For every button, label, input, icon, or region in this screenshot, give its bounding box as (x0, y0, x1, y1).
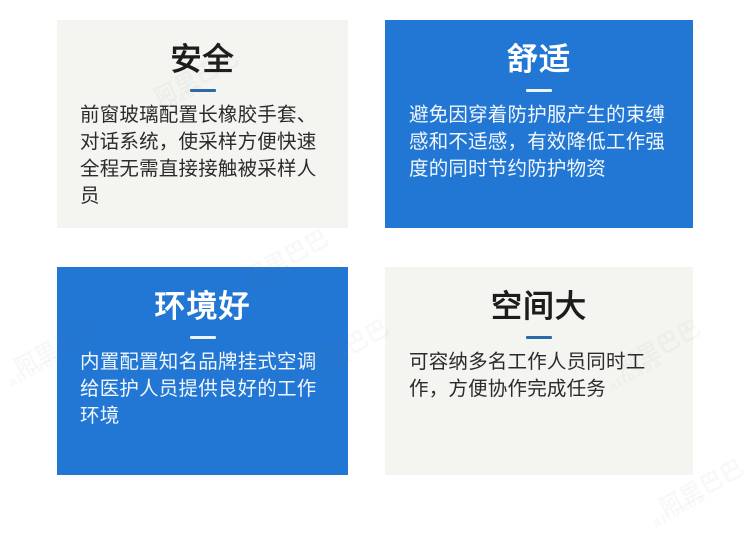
divider-line (526, 336, 552, 339)
card-title: 舒适 (407, 40, 671, 80)
card-title: 安全 (79, 40, 326, 80)
feature-card-good-environment: 环境好 内置配置知名品牌挂式空调给医护人员提供良好的工作环境 (57, 267, 348, 475)
card-body-text: 避免因穿着防护服产生的束缚感和不适感，有效降低工作强度的同时节约防护物资 (409, 102, 671, 183)
watermark-brand: alibaba (650, 489, 709, 530)
divider-line (526, 89, 552, 92)
card-body-text: 内置配置知名品牌挂式空调给医护人员提供良好的工作环境 (80, 349, 324, 430)
feature-card-grid: 安全 前窗玻璃配置长橡胶手套、对话系统，使采样方便快速全程无需直接接触被采样人员… (57, 20, 693, 475)
divider-line (190, 89, 216, 92)
feature-card-large-space: 空间大 可容纳多名工作人员同时工作，方便协作完成任务 (385, 267, 693, 475)
feature-card-safety: 安全 前窗玻璃配置长橡胶手套、对话系统，使采样方便快速全程无需直接接触被采样人员 (57, 20, 348, 228)
card-body-text: 可容纳多名工作人员同时工作，方便协作完成任务 (409, 349, 671, 403)
card-title: 环境好 (79, 287, 326, 327)
divider-line (190, 336, 216, 339)
card-title: 空间大 (407, 287, 671, 327)
feature-card-comfort: 舒适 避免因穿着防护服产生的束缚感和不适感，有效降低工作强度的同时节约防护物资 (385, 20, 693, 228)
card-body-text: 前窗玻璃配置长橡胶手套、对话系统，使采样方便快速全程无需直接接触被采样人员 (80, 102, 324, 210)
